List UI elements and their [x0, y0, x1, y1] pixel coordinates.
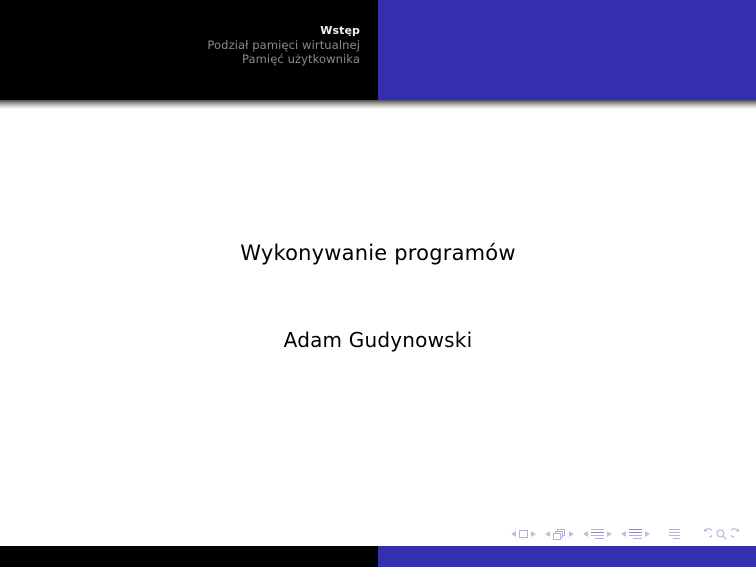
history-group — [699, 528, 744, 541]
headline-blue-panel — [378, 0, 756, 100]
search-icon[interactable] — [715, 528, 728, 541]
next-subsection-icon[interactable] — [607, 531, 612, 537]
subsection-icon[interactable] — [591, 529, 604, 540]
document-group — [669, 529, 680, 540]
next-slide-icon[interactable] — [531, 531, 536, 537]
previous-slide-icon[interactable] — [511, 531, 516, 537]
section-item-pamiec-uzytkownika[interactable]: Pamięć użytkownika — [0, 52, 360, 66]
headline-drop-shadow — [0, 100, 756, 109]
subsection-navigation-group — [583, 529, 612, 540]
footline-blue-panel — [378, 546, 756, 567]
section-navigation-group — [621, 529, 650, 540]
slide-headline: Wstęp Podział pamięci wirtualnej Pamięć … — [0, 0, 756, 100]
slide-icon[interactable] — [519, 530, 528, 538]
section-item-podzial-pamieci-wirtualnej[interactable]: Podział pamięci wirtualnej — [0, 38, 360, 52]
back-arrow-icon[interactable] — [699, 528, 712, 541]
previous-section-icon[interactable] — [621, 531, 626, 537]
document-icon[interactable] — [669, 529, 680, 540]
section-item-wstep[interactable]: Wstęp — [0, 24, 360, 38]
frame-stack-icon[interactable] — [553, 529, 566, 540]
slide-body: Wykonywanie programów Adam Gudynowski — [0, 109, 756, 546]
next-section-icon[interactable] — [645, 531, 650, 537]
slide-footline — [0, 546, 756, 567]
author-block: Adam Gudynowski — [0, 328, 756, 352]
slide-navigation-group — [511, 530, 536, 538]
previous-frame-icon[interactable] — [545, 531, 550, 537]
section-navigation-list: Wstęp Podział pamięci wirtualnej Pamięć … — [0, 0, 360, 66]
presentation-author: Adam Gudynowski — [0, 328, 756, 352]
section-icon[interactable] — [629, 529, 642, 540]
presentation-title: Wykonywanie programów — [0, 241, 756, 265]
forward-arrow-icon[interactable] — [731, 528, 744, 541]
beamer-navigation-symbols — [511, 525, 744, 543]
frame-navigation-group — [545, 529, 574, 540]
next-frame-icon[interactable] — [569, 531, 574, 537]
title-block: Wykonywanie programów — [0, 241, 756, 265]
footline-black-panel — [0, 546, 378, 567]
previous-subsection-icon[interactable] — [583, 531, 588, 537]
